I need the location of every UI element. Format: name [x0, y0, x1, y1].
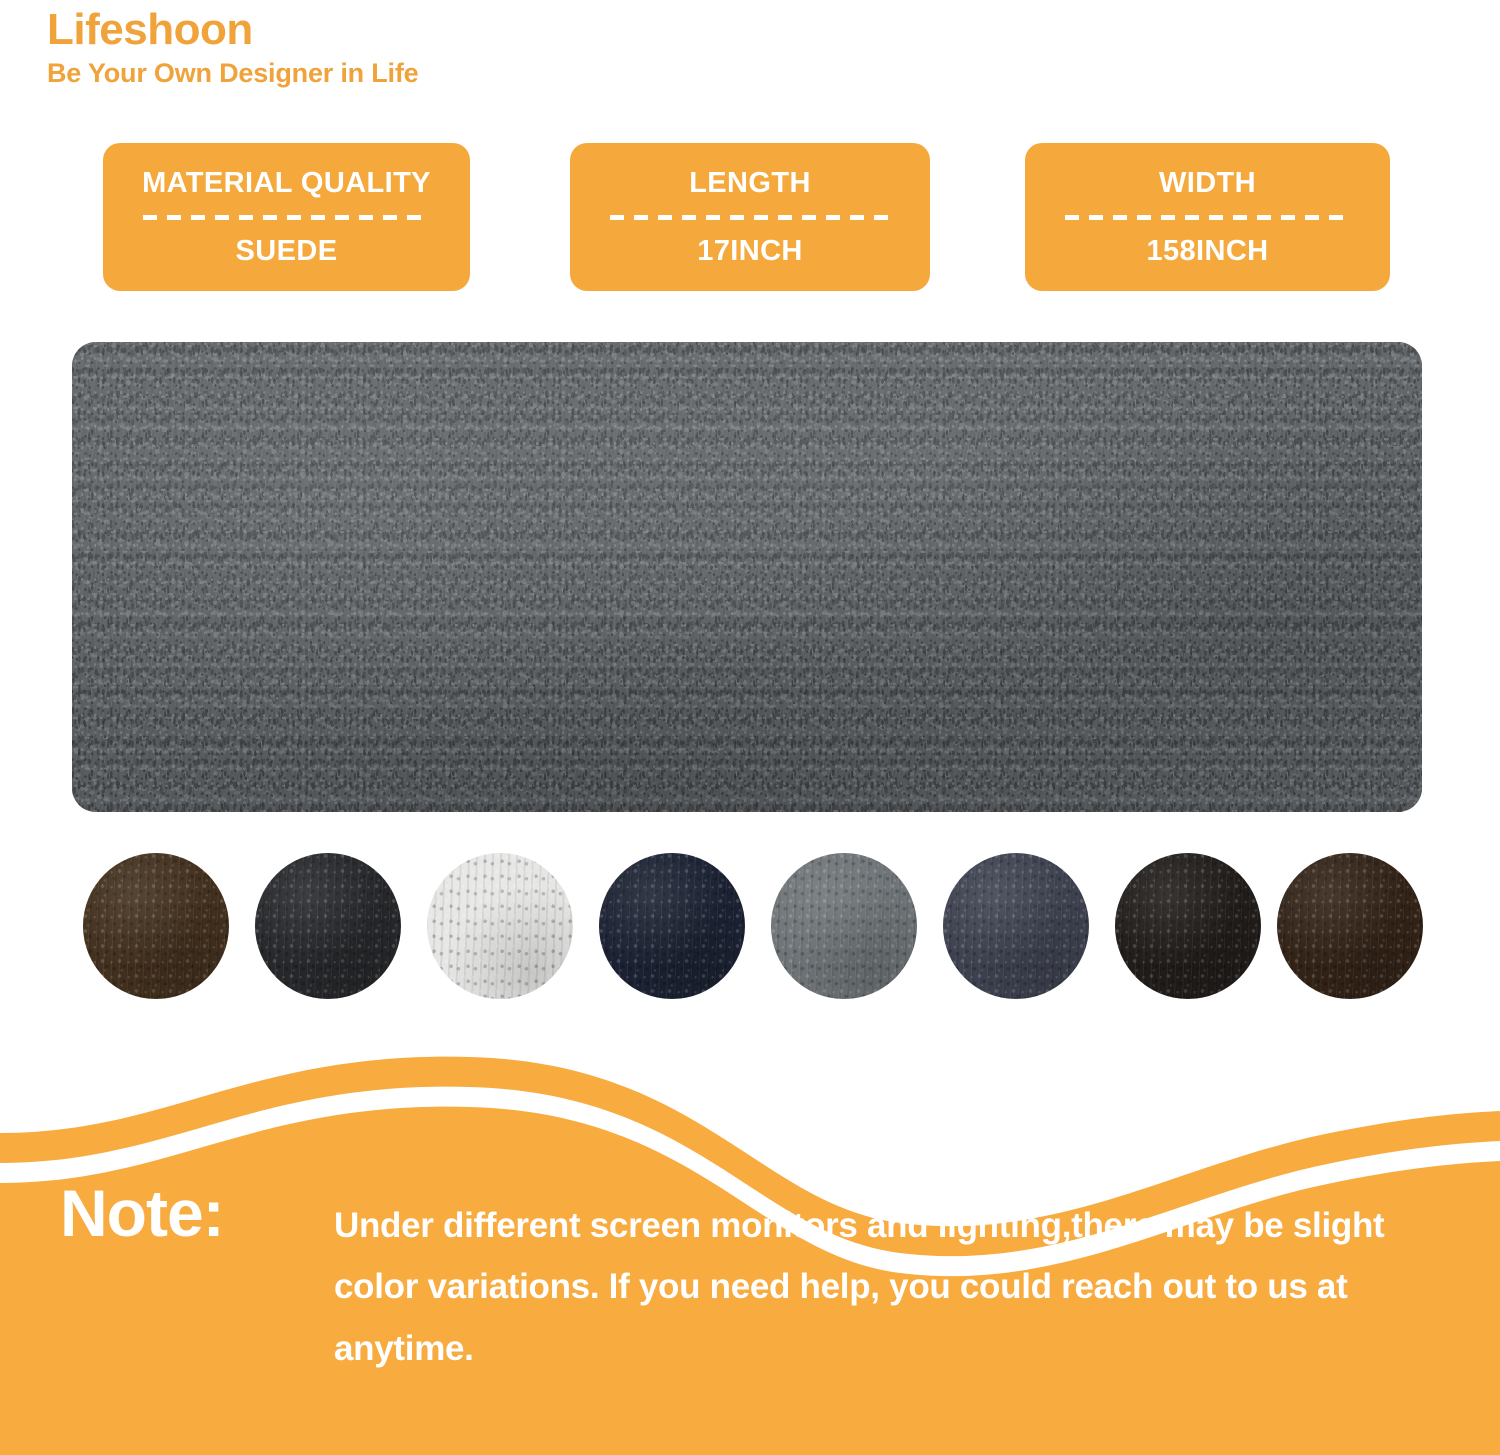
dashed-divider [610, 215, 891, 220]
spec-badge-length: LENGTH 17INCH [570, 143, 930, 291]
spec-badge-value: SUEDE [236, 237, 338, 266]
color-swatch-white[interactable] [427, 853, 573, 999]
brand-tagline: Be Your Own Designer in Life [47, 59, 747, 89]
spec-badge-title: WIDTH [1159, 169, 1256, 198]
swatch-shading [599, 853, 745, 999]
spec-badge-group: MATERIAL QUALITY SUEDE LENGTH 17INCH WID… [0, 143, 1500, 291]
swatch-shading [255, 853, 401, 999]
note-label: Note: [60, 1180, 224, 1246]
spec-badge-title: MATERIAL QUALITY [142, 169, 431, 198]
product-image-rug [72, 342, 1422, 812]
brand-name: Lifeshoon [47, 6, 747, 54]
swatch-shading [427, 853, 573, 999]
swatch-shading [1277, 853, 1423, 999]
color-swatch-black[interactable] [255, 853, 401, 999]
note-banner: Note: Under different screen monitors an… [0, 1055, 1500, 1455]
swatch-shading [83, 853, 229, 999]
spec-badge-title: LENGTH [689, 169, 811, 198]
note-body-text: Under different screen monitors and ligh… [334, 1195, 1454, 1379]
color-swatch-dark-coffee[interactable] [1115, 853, 1261, 999]
color-swatch-row [83, 853, 1423, 1003]
swatch-shading [943, 853, 1089, 999]
color-swatch-gray[interactable] [771, 853, 917, 999]
swatch-shading [1115, 853, 1261, 999]
rug-lighting-overlay [72, 342, 1422, 812]
spec-badge-value: 17INCH [697, 237, 803, 266]
swatch-shading [771, 853, 917, 999]
color-swatch-brown[interactable] [83, 853, 229, 999]
dashed-divider [1065, 215, 1350, 220]
spec-badge-material-quality: MATERIAL QUALITY SUEDE [103, 143, 470, 291]
brand-header: Lifeshoon Be Your Own Designer in Life [47, 6, 747, 88]
spec-badge-value: 158INCH [1146, 237, 1268, 266]
color-swatch-charcoal[interactable] [943, 853, 1089, 999]
color-swatch-dark-brown[interactable] [1277, 853, 1423, 999]
note-content: Note: Under different screen monitors an… [0, 1055, 1500, 1455]
spec-badge-width: WIDTH 158INCH [1025, 143, 1390, 291]
color-swatch-navy[interactable] [599, 853, 745, 999]
dashed-divider [143, 215, 429, 220]
